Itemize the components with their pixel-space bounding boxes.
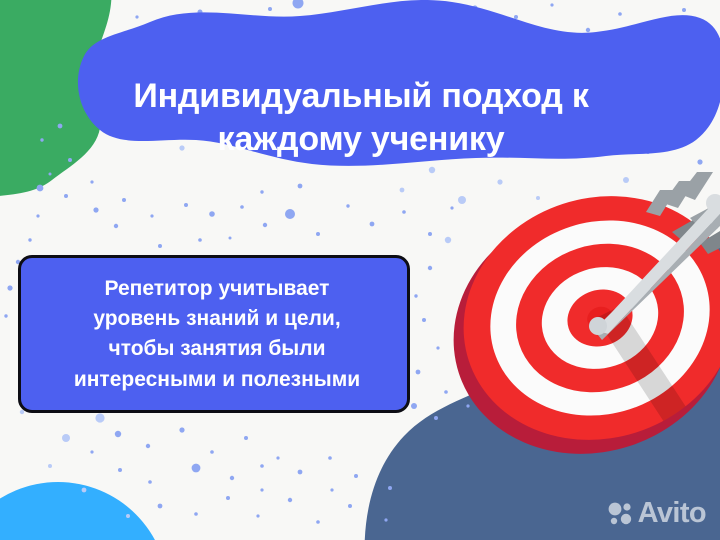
description-callout-box: Репетитор учитывает уровень знаний и цел… <box>18 255 410 413</box>
promo-poster: Индивидуальный подход к каждому ученику … <box>0 0 720 540</box>
page-title: Индивидуальный подход к каждому ученику <box>96 75 626 162</box>
avito-watermark: Avito <box>607 499 706 528</box>
description-text: Репетитор учитывает уровень знаний и цел… <box>3 274 431 395</box>
avito-dots-icon <box>607 501 633 527</box>
avito-watermark-label: Avito <box>638 499 706 528</box>
target-face <box>432 161 720 475</box>
arrow-tip <box>589 317 607 335</box>
